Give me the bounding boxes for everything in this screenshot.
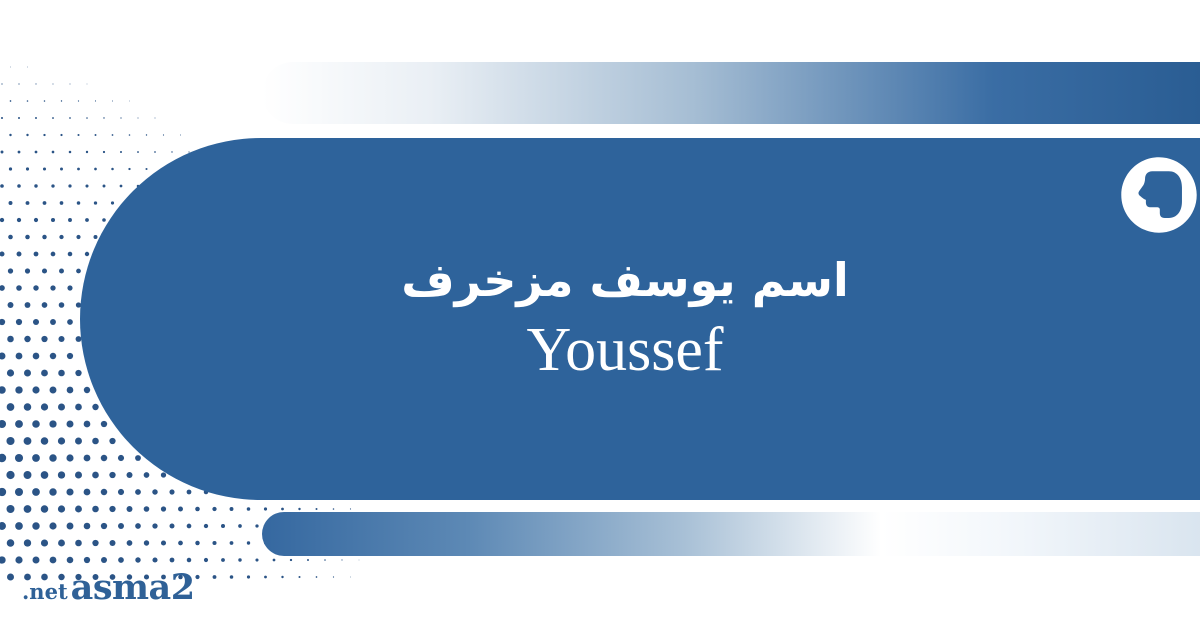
gradient-bar-top [262,62,1200,124]
english-title: Youssef [527,315,724,386]
brand-logo[interactable]: asma2 .net [22,570,195,605]
arabic-title: اسم يوسف مزخرف [401,252,849,310]
panel-content: اسم يوسف مزخرف Youssef [80,138,1200,500]
gradient-bar-bottom [262,512,1200,556]
brand-tld: .net [22,581,68,602]
face-profile-icon [1118,154,1200,236]
main-panel: اسم يوسف مزخرف Youssef [80,138,1200,500]
brand-name: asma2 [71,570,195,605]
poster-canvas: اسم يوسف مزخرف Youssef asma2 .net [0,0,1200,628]
